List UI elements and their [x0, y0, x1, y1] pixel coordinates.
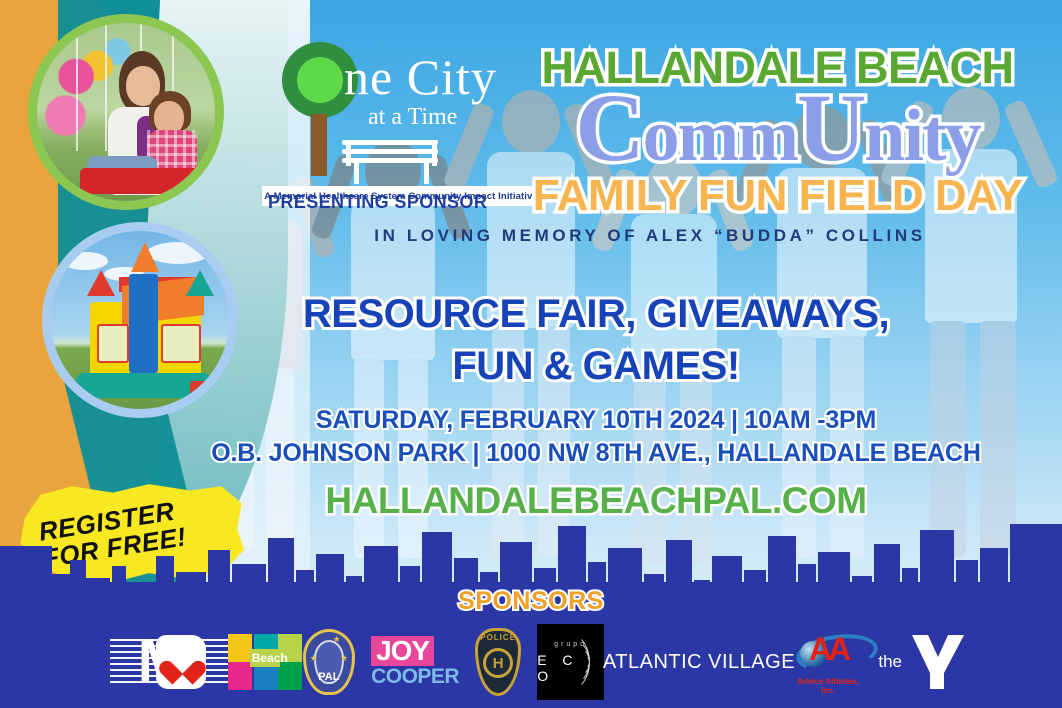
aa-label: AA — [809, 633, 847, 665]
title-community: CommUnity — [505, 92, 1050, 172]
sponsor-pal[interactable]: ★ ★ ★ PAL — [303, 629, 355, 695]
heart-icon — [168, 651, 196, 676]
sponsor-atlantic-village[interactable]: ATLANTIC VILLAGE — [620, 644, 778, 680]
tree-trunk — [311, 114, 327, 176]
sponsor-memorial-healthcare[interactable]: M — [110, 631, 212, 693]
sponsor-grupo-eco[interactable]: grupo E C O — [537, 624, 604, 700]
sponsor-police-department[interactable]: POLICE H — [475, 628, 521, 696]
joy-label: JOY — [371, 636, 434, 666]
one-city-wordmark: ne City — [344, 52, 497, 102]
headline-line-1: RESOURCE FAIR, GIVEAWAYS, — [176, 288, 1016, 340]
hbeach-label: Beach — [252, 651, 288, 665]
ymca-y-icon — [908, 633, 966, 691]
advice-athletes-label: Advice Athletes, Inc. — [794, 677, 862, 695]
swing-ride-photo — [28, 14, 224, 210]
sponsor-advice-athletes[interactable]: AA Advice Athletes, Inc. — [794, 627, 862, 697]
community-u: U — [797, 74, 864, 181]
event-location: O.B. JOHNSON PARK | 1000 NW 8TH AVE., HA… — [176, 437, 1016, 470]
presenting-sponsor-label: PRESENTING SPONSOR — [268, 192, 508, 213]
sponsors-heading: SPONSORS — [0, 586, 1062, 616]
event-datetime: SATURDAY, FEBRUARY 10TH 2024 | 10AM -3PM — [176, 404, 1016, 437]
memorial-dedication: IN LOVING MEMORY OF ALEX “BUDDA” COLLINS — [300, 226, 1000, 246]
one-city-subtitle: at a Time — [368, 104, 457, 131]
event-flyer: ne City at a Time A Memorial Healthcare … — [0, 0, 1062, 708]
title-family-fun-field-day: FAMILY FUN FIELD DAY — [505, 172, 1050, 220]
event-title-block: HALLANDALE BEACH CommUnity FAMILY FUN FI… — [505, 44, 1050, 220]
headline-line-2: FUN & GAMES! — [176, 340, 1016, 392]
cooper-label: COOPER — [371, 666, 459, 688]
community-nity: nity — [864, 95, 979, 177]
main-copy-block: RESOURCE FAIR, GIVEAWAYS, FUN & GAMES! S… — [176, 288, 1016, 522]
community-omm: omm — [643, 95, 797, 177]
atlantic-village-label: ATLANTIC VILLAGE — [603, 651, 795, 674]
sponsor-ymca[interactable]: the — [878, 629, 966, 695]
police-label: POLICE — [475, 633, 521, 642]
sponsor-bar: M Beach ★ ★ ★ PAL — [0, 616, 1062, 708]
eco-arcs-icon — [548, 631, 600, 693]
ymca-the-label: the — [878, 652, 902, 672]
one-city-logo: ne City at a Time A Memorial Healthcare … — [278, 36, 518, 186]
sponsor-joy-cooper[interactable]: JOY COOPER — [371, 633, 459, 691]
police-h-mark: H — [483, 648, 513, 678]
community-c: C — [575, 74, 642, 181]
pal-label: PAL — [303, 671, 355, 683]
sponsor-hallandale-beach-city[interactable]: Beach — [228, 632, 287, 692]
bench-icon — [340, 140, 444, 184]
